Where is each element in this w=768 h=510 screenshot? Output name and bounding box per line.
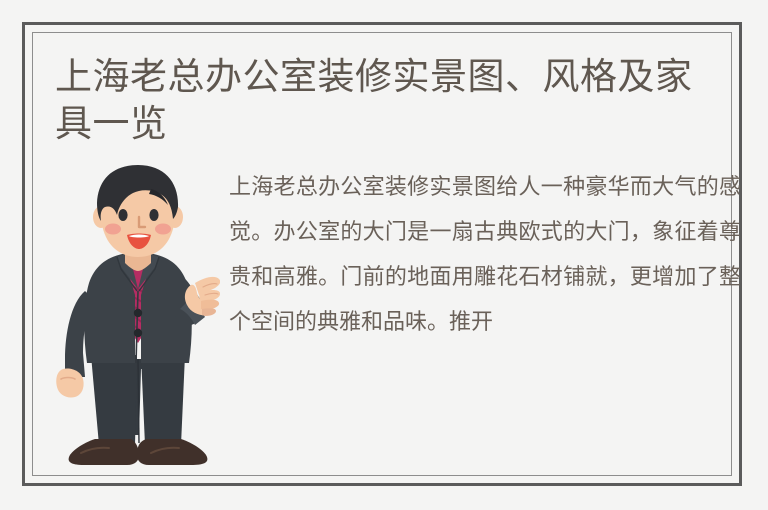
businessman-presenting-illustration xyxy=(55,163,220,473)
cheek-right xyxy=(155,224,171,235)
article-card-inner-border: 上海老总办公室装修实景图、风格及家具一览 xyxy=(32,32,732,476)
trousers-group xyxy=(91,355,185,445)
article-content-row: 上海老总办公室装修实景图给人一种豪华而大气的感觉。办公室的大门是一扇古典欧式的大… xyxy=(33,155,731,475)
page-title: 上海老总办公室装修实景图、风格及家具一览 xyxy=(55,53,715,147)
head-group xyxy=(93,165,183,257)
eye-right xyxy=(149,209,158,221)
eye-left xyxy=(118,209,127,221)
article-body-text: 上海老总办公室装修实景图给人一种豪华而大气的感觉。办公室的大门是一扇古典欧式的大… xyxy=(229,165,741,345)
cheek-left xyxy=(105,224,121,235)
article-card-frame: 上海老总办公室装修实景图、风格及家具一览 xyxy=(22,22,742,486)
shoes-group xyxy=(69,439,208,465)
